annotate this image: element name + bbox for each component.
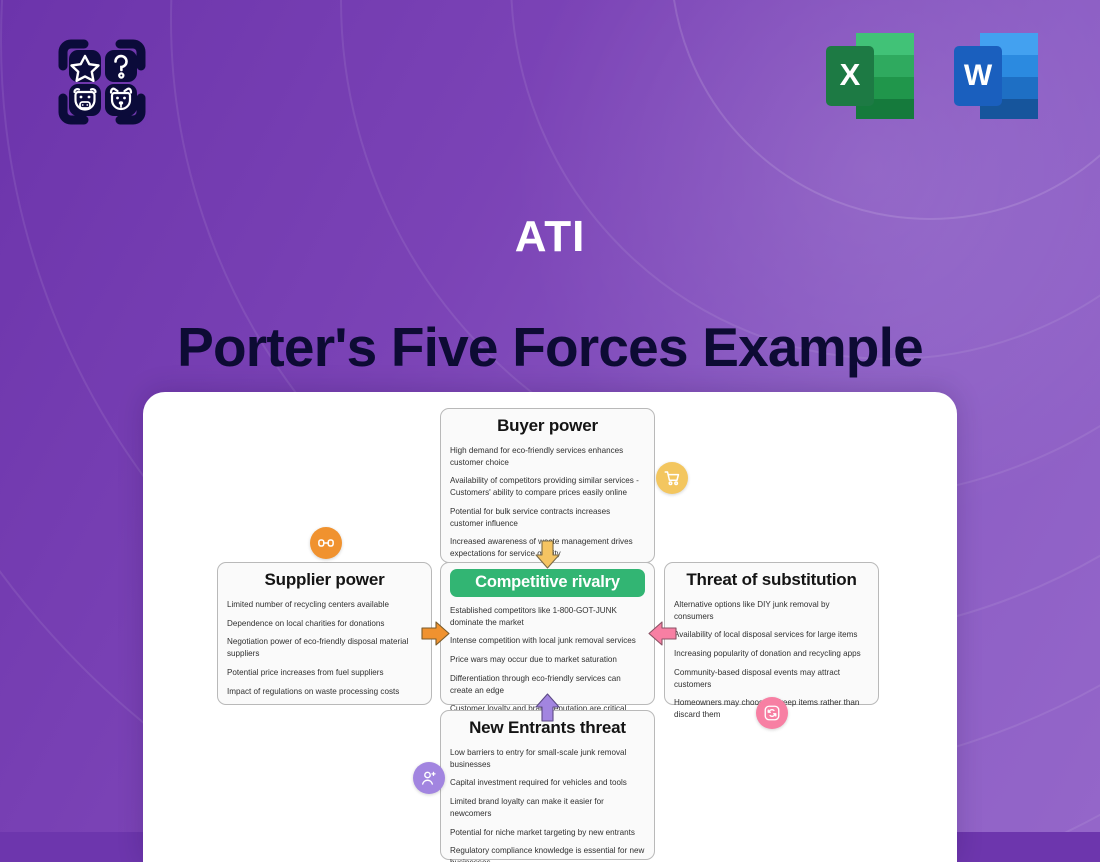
porters-five-forces-diagram: Buyer power High demand for eco-friendly… [143,392,957,862]
svg-text:W: W [964,59,993,92]
question-mark-icon [105,50,137,82]
force-box-threat-of-substitution[interactable]: Threat of substitution Alternative optio… [664,562,879,705]
list-item: Limited number of recycling centers avai… [227,599,422,611]
list-item: Established competitors like 1-800-GOT-J… [450,605,645,628]
app-logo[interactable] [47,32,157,132]
excel-icon[interactable]: X [822,28,922,124]
list-item: Intense competition with local junk remo… [450,635,645,647]
arrow-entrants-up [534,692,561,722]
force-title: Supplier power [227,570,422,590]
logo-icon [47,32,157,132]
list-item: Regulatory compliance knowledge is essen… [450,845,645,862]
force-box-new-entrants-threat[interactable]: New Entrants threat Low barriers to entr… [440,710,655,860]
threat-badge[interactable] [756,697,788,729]
brand-name: ATI [0,212,1100,262]
list-item: Price wars may occur due to market satur… [450,654,645,666]
arrow-supplier-right [421,620,451,647]
word-icon[interactable]: W [952,28,1052,124]
refresh-sync-icon [763,704,781,722]
arrow-threat-left [647,620,677,647]
list-item: Negotiation power of eco-friendly dispos… [227,636,422,659]
force-box-competitive-rivalry[interactable]: Competitive rivalry Established competit… [440,562,655,705]
entrants-badge[interactable] [413,762,445,794]
list-item: Availability of competitors providing si… [450,475,645,498]
force-title: Competitive rivalry [450,569,645,597]
arrow-buyer-down [534,540,561,570]
cow-icon [69,84,101,116]
supplier-badge[interactable] [310,527,342,559]
buyer-badge[interactable] [656,462,688,494]
dog-icon [105,84,137,116]
list-item: Potential for bulk service contracts inc… [450,506,645,529]
list-item: Alternative options like DIY junk remova… [674,599,869,622]
list-item: Availability of local disposal services … [674,629,869,641]
force-item-list: Low barriers to entry for small-scale ju… [450,747,645,862]
list-item: Limited brand loyalty can make it easier… [450,796,645,819]
list-item: Low barriers to entry for small-scale ju… [450,747,645,770]
add-person-icon [420,769,438,787]
link-chain-icon [317,534,335,552]
star-icon [69,50,101,82]
force-title: Threat of substitution [674,570,869,590]
office-app-icons: X W [822,28,1052,124]
diagram-card: Buyer power High demand for eco-friendly… [143,392,957,862]
list-item: Capital investment required for vehicles… [450,777,645,789]
page-title: Porter's Five Forces Example [0,315,1100,379]
list-item: Community-based disposal events may attr… [674,667,869,690]
force-title: Buyer power [450,416,645,436]
list-item: High demand for eco-friendly services en… [450,445,645,468]
list-item: Impact of regulations on waste processin… [227,686,422,698]
list-item: Dependence on local charities for donati… [227,618,422,630]
list-item: Increasing popularity of donation and re… [674,648,869,660]
shopping-cart-icon [663,469,681,487]
svg-text:X: X [840,57,861,92]
list-item: Potential price increases from fuel supp… [227,667,422,679]
force-item-list: Limited number of recycling centers avai… [227,599,422,697]
force-box-supplier-power[interactable]: Supplier power Limited number of recycli… [217,562,432,705]
list-item: Potential for niche market targeting by … [450,827,645,839]
